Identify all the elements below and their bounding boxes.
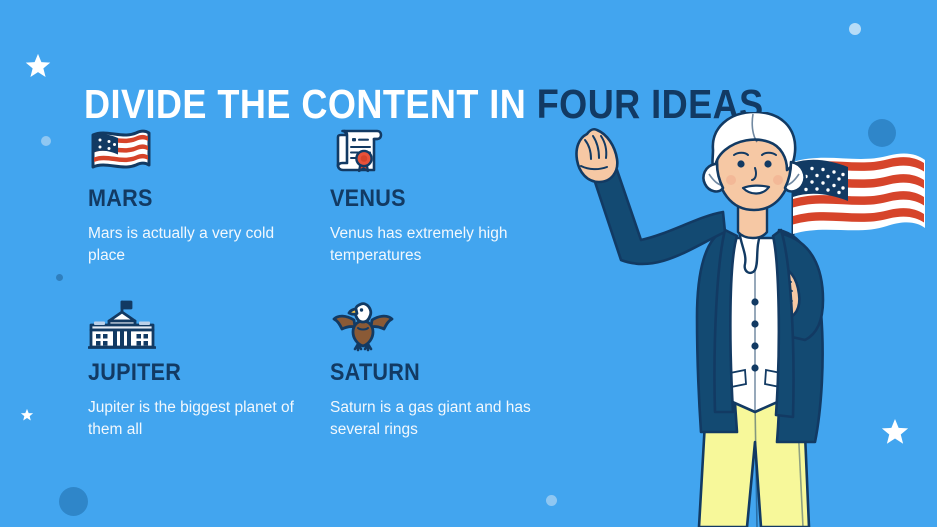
feature-item-jupiter[interactable]: JUPITER Jupiter is the biggest planet of… bbox=[88, 299, 318, 442]
feature-title: MARS bbox=[88, 187, 295, 211]
feature-title: SATURN bbox=[330, 361, 537, 385]
star-left-lower bbox=[20, 408, 34, 422]
feature-item-saturn[interactable]: SATURN Saturn is a gas giant and has sev… bbox=[330, 299, 560, 442]
slide-canvas: DIVIDE THE CONTENT IN FOUR IDEAS bbox=[0, 0, 937, 527]
feature-description: Jupiter is the biggest planet of them al… bbox=[88, 397, 303, 442]
feature-title: VENUS bbox=[330, 187, 537, 211]
page-title-primary: DIVIDE THE CONTENT IN bbox=[84, 81, 526, 127]
feature-description: Venus has extremely high temperatures bbox=[330, 223, 545, 268]
george-washington-with-flag-illustration bbox=[565, 112, 937, 527]
dot-bottom-center bbox=[546, 495, 557, 506]
bald-eagle-icon bbox=[330, 299, 560, 351]
dot-left-mid bbox=[56, 274, 63, 281]
certificate-scroll-icon bbox=[330, 125, 560, 177]
white-house-icon bbox=[88, 299, 318, 351]
feature-description: Saturn is a gas giant and has several ri… bbox=[330, 397, 545, 442]
usa-flag-icon bbox=[88, 125, 318, 177]
dot-top-right bbox=[849, 23, 861, 35]
feature-title: JUPITER bbox=[88, 361, 295, 385]
feature-item-mars[interactable]: MARS Mars is actually a very cold place bbox=[88, 125, 318, 268]
dot-bottom-left bbox=[59, 487, 88, 516]
dot-left-upper bbox=[41, 136, 51, 146]
feature-item-venus[interactable]: VENUS Venus has extremely high temperatu… bbox=[330, 125, 560, 268]
feature-description: Mars is actually a very cold place bbox=[88, 223, 303, 268]
star-top-left bbox=[24, 52, 52, 80]
